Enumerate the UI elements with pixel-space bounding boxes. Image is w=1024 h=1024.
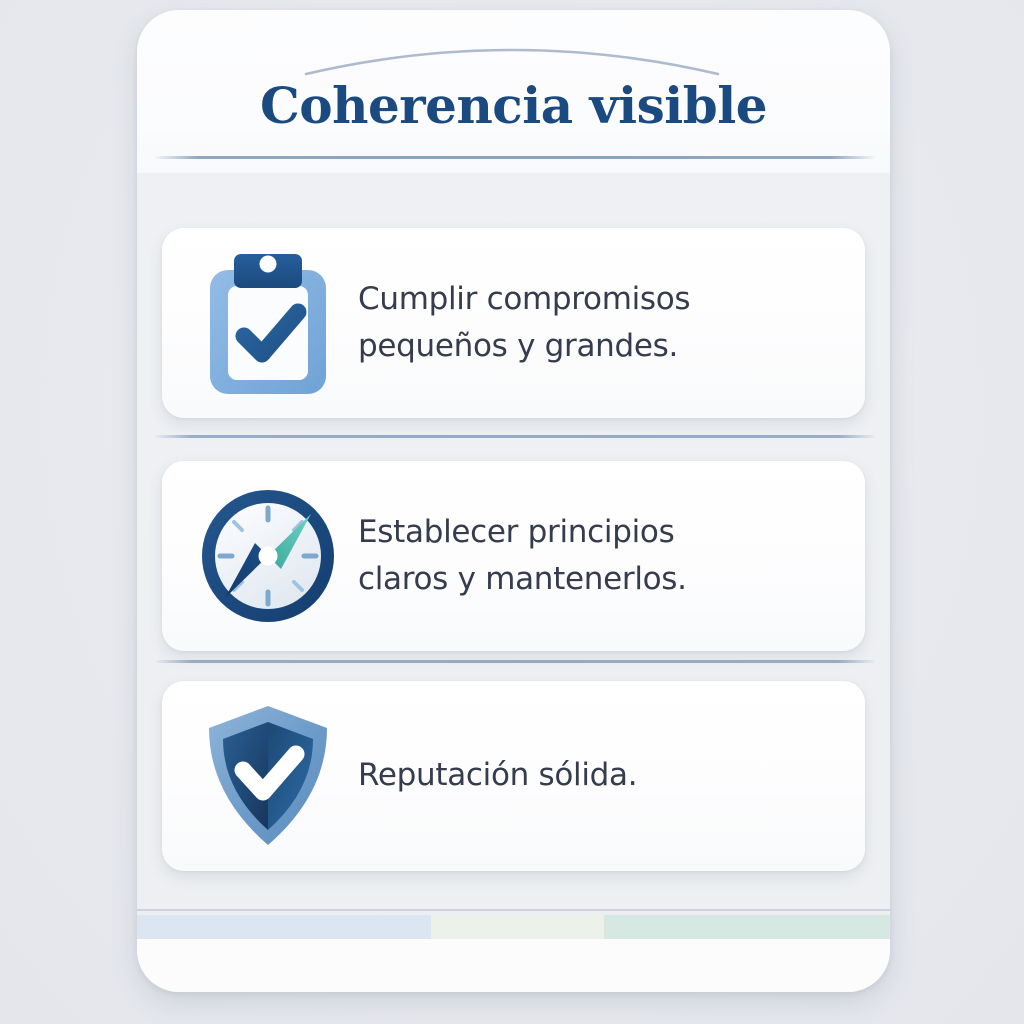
accent-segment-pale-green <box>431 915 604 939</box>
list-item-line-2: claros y mantenerlos. <box>358 556 841 603</box>
card-separator <box>155 660 875 663</box>
compass-icon <box>198 486 338 626</box>
panel-footer <box>137 939 890 992</box>
list-item-line-1: Reputación sólida. <box>358 752 841 799</box>
panel-body: Cumplir compromisos pequeños y grandes. <box>137 173 890 992</box>
list-item[interactable]: Establecer principios claros y mantenerl… <box>162 461 865 651</box>
list-item-text: Cumplir compromisos pequeños y grandes. <box>344 276 865 370</box>
clipboard-check-icon <box>202 248 334 398</box>
list-item-line-1: Cumplir compromisos <box>358 276 841 323</box>
card-icon-slot <box>192 702 344 850</box>
accent-bar-topline <box>137 909 890 911</box>
decorative-arc-icon <box>302 32 722 78</box>
shield-check-icon <box>201 702 335 850</box>
title-underline <box>155 156 875 159</box>
list-item-line-1: Establecer principios <box>358 509 841 556</box>
accent-segment-blue <box>137 915 431 939</box>
accent-bar <box>137 915 890 939</box>
list-item[interactable]: Reputación sólida. <box>162 681 865 871</box>
list-item-line-2: pequeños y grandes. <box>358 323 841 370</box>
card-separator <box>155 435 875 438</box>
card-icon-slot <box>192 486 344 626</box>
card-icon-slot <box>192 248 344 398</box>
list-item-text: Reputación sólida. <box>344 752 865 799</box>
screenshot-root: Coherencia visible <box>0 0 1024 1024</box>
page-title: Coherencia visible <box>137 76 890 135</box>
content-panel: Coherencia visible <box>137 10 890 992</box>
panel-header: Coherencia visible <box>137 10 890 173</box>
list-item-text: Establecer principios claros y mantenerl… <box>344 509 865 603</box>
accent-segment-teal <box>604 915 890 939</box>
list-item[interactable]: Cumplir compromisos pequeños y grandes. <box>162 228 865 418</box>
